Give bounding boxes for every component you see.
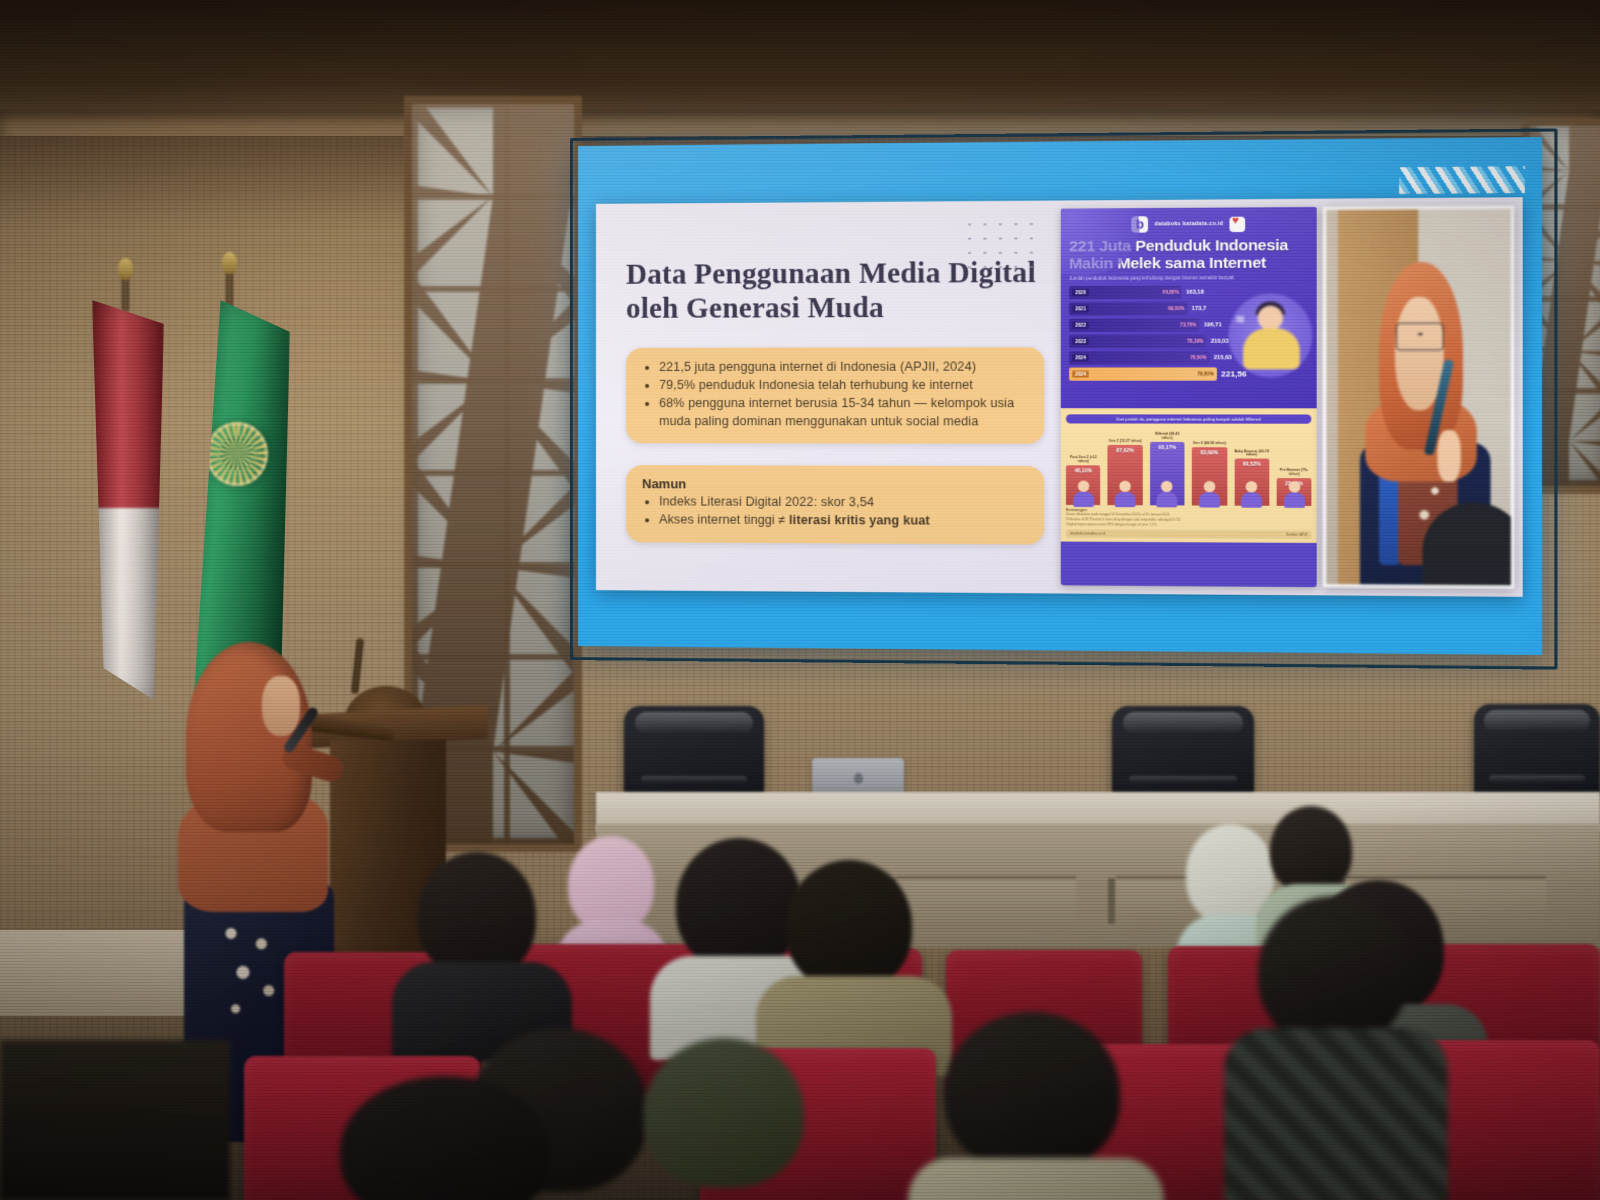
infographic-footnotes: Keterangan: Survei dilakukan pada tangga… bbox=[1066, 508, 1312, 527]
illustration-person: ≋ bbox=[1229, 293, 1313, 377]
flagpole-finial bbox=[118, 258, 133, 280]
chart-bar-percent: 78,50% bbox=[1190, 356, 1206, 361]
generation-label: Post Gen Z (<12 tahun) bbox=[1066, 456, 1101, 464]
figure-head bbox=[1161, 481, 1172, 492]
chair-highlight bbox=[641, 776, 747, 783]
caveat-plain: Akses internet tinggi ≠ bbox=[659, 513, 789, 528]
generation-figure-illustration bbox=[1239, 481, 1265, 508]
audience-member-front bbox=[1224, 896, 1444, 1196]
chart-bar-year: 2021 bbox=[1072, 306, 1089, 313]
generation-percent: 93,17% bbox=[1158, 445, 1176, 451]
chair-highlight bbox=[1484, 710, 1590, 733]
institution-emblem bbox=[206, 422, 268, 486]
chart-bar-value: 210,03 bbox=[1211, 339, 1229, 345]
slide-text-column: Data Penggunaan Media Digital oleh Gener… bbox=[596, 201, 1059, 594]
generation-bar: Milenial (28-43 tahun)93,17% bbox=[1150, 433, 1185, 505]
generation-note-banner: Dari jumlah itu, pengguna internet Indon… bbox=[1066, 414, 1312, 424]
generation-bar: Gen Z (12-27 tahun)87,02% bbox=[1108, 440, 1143, 505]
audience-plaid-shirt bbox=[1224, 1028, 1448, 1200]
audience-member-front bbox=[620, 1020, 820, 1200]
chart-bar-percent: 64,80% bbox=[1162, 290, 1178, 295]
chart-bar-year: 2023 bbox=[1072, 338, 1089, 345]
figure-head bbox=[1078, 481, 1089, 492]
generation-figure-illustration bbox=[1112, 481, 1138, 508]
auditorium-photo: Data Penggunaan Media Digital oleh Gener… bbox=[0, 0, 1600, 1200]
figure-body bbox=[1073, 492, 1094, 507]
figure-head bbox=[1204, 481, 1216, 492]
caveat-heading: Namun bbox=[642, 477, 1028, 493]
infographic-generations: Dari jumlah itu, pengguna internet Indon… bbox=[1061, 408, 1317, 543]
illustration-head bbox=[1258, 306, 1283, 331]
footer-source-right: Sumber: APJII bbox=[1286, 533, 1307, 537]
generation-percent: 60,52% bbox=[1243, 462, 1261, 468]
chart-bar: 202378,19% bbox=[1069, 335, 1207, 349]
chart-bar: 202273,70% bbox=[1069, 319, 1199, 333]
generation-label: Milenial (28-43 tahun) bbox=[1150, 433, 1185, 441]
dot-grid-decoration bbox=[962, 217, 1036, 274]
audience-member-front bbox=[300, 1076, 600, 1200]
presenter-face bbox=[262, 676, 300, 736]
chair-highlight bbox=[1489, 775, 1585, 783]
audience-cap bbox=[644, 1038, 804, 1188]
presentation-slide: Data Penggunaan Media Digital oleh Gener… bbox=[596, 197, 1523, 597]
audience-shoulders bbox=[908, 1158, 1164, 1200]
generation-percent: 87,02% bbox=[1116, 448, 1134, 454]
brand-name: databoks katadata.co.id bbox=[1155, 221, 1224, 228]
generation-bar: Pre Boomer (79+ tahun)23,00% bbox=[1277, 469, 1312, 506]
audience-head bbox=[786, 860, 912, 990]
panel-chair bbox=[1474, 704, 1600, 798]
list-item: 221,5 juta pengguna internet di Indonesi… bbox=[659, 359, 1028, 377]
indonesian-flag bbox=[92, 300, 164, 700]
chart-bar-value: 221,56 bbox=[1221, 370, 1247, 379]
panel-chair bbox=[624, 706, 764, 798]
figure-head bbox=[1246, 481, 1258, 492]
audience-head bbox=[340, 1076, 550, 1200]
infographic-image: b databoks katadata.co.id 221 Juta Pendu… bbox=[1061, 207, 1317, 587]
chart-bar-value: 215,63 bbox=[1214, 355, 1232, 361]
list-item: 79,5% penduduk Indonesia telah terhubung… bbox=[659, 377, 1028, 395]
slide-caveat-list: Indeks Literasi Digital 2022: skor 3,54 … bbox=[642, 494, 1028, 531]
chart-bar-year: 2024 bbox=[1072, 355, 1089, 362]
chart-bar-percent: 79,50% bbox=[1197, 372, 1213, 377]
eyeglasses-icon bbox=[1396, 323, 1443, 351]
generation-bar: Post Gen Z (<12 tahun)48,10% bbox=[1066, 456, 1101, 506]
generation-bar: Gen X (44-59 tahun)83,69% bbox=[1192, 442, 1227, 506]
chart-bar: 202169,00% bbox=[1069, 302, 1187, 316]
projection-screen: Data Penggunaan Media Digital oleh Gener… bbox=[578, 137, 1542, 655]
chart-bar-value: 163,18 bbox=[1186, 290, 1204, 296]
desk-gap bbox=[1108, 878, 1115, 924]
chart-bar-percent: 78,19% bbox=[1187, 339, 1203, 344]
audience-head bbox=[1258, 896, 1408, 1046]
figure-body bbox=[1157, 492, 1178, 507]
figure-body bbox=[1199, 492, 1220, 507]
hijab-head bbox=[568, 836, 654, 932]
chart-bar: 202478,50% bbox=[1069, 351, 1209, 364]
heart-icon bbox=[1229, 216, 1245, 231]
audience-head bbox=[944, 1012, 1120, 1172]
chart-bar-percent: 73,70% bbox=[1180, 323, 1196, 328]
flagpole-finial bbox=[222, 252, 237, 274]
chart-bar-percent: 69,00% bbox=[1168, 306, 1184, 311]
slide-stats-box: 221,5 juta pengguna internet di Indonesi… bbox=[626, 348, 1044, 445]
figure-body bbox=[1284, 493, 1305, 508]
foreground-shadow bbox=[0, 1040, 230, 1200]
chart-bar: 202064,80% bbox=[1069, 286, 1182, 300]
caveat-bold: literasi kritis yang kuat bbox=[789, 513, 930, 528]
chair-highlight bbox=[635, 712, 753, 734]
generation-percent: 48,10% bbox=[1074, 468, 1092, 474]
figure-body bbox=[1115, 492, 1136, 507]
decorative-stripes bbox=[1399, 166, 1525, 194]
figure-body bbox=[1241, 493, 1262, 508]
list-item: Indeks Literasi Digital 2022: skor 3,54 bbox=[659, 494, 1028, 513]
slide-caveat-box: Namun Indeks Literasi Digital 2022: skor… bbox=[626, 466, 1044, 545]
chair-highlight bbox=[1129, 776, 1237, 783]
generation-label: Baby Boomer (60-78 tahun) bbox=[1234, 450, 1269, 458]
slide-stats-list: 221,5 juta pengguna internet di Indonesi… bbox=[642, 359, 1028, 431]
infographic-subtitle: Jumlah penduduk Indonesia yang terhubung… bbox=[1069, 275, 1308, 282]
generation-label: Gen Z (12-27 tahun) bbox=[1109, 440, 1142, 444]
chart-bar-value: 173,7 bbox=[1192, 306, 1207, 312]
chair-highlight bbox=[1123, 712, 1242, 734]
infographic-footer-bar: databoks.katadata.co.id Sumber: APJII bbox=[1066, 530, 1312, 539]
audience-member bbox=[392, 852, 568, 1052]
speaker-video-feed bbox=[1323, 206, 1514, 589]
generation-figure-illustration bbox=[1281, 481, 1307, 508]
audience-head bbox=[418, 852, 536, 978]
wifi-icon: ≋ bbox=[1235, 312, 1252, 326]
list-item: 68% pengguna internet berusia 15-34 tahu… bbox=[659, 395, 1028, 431]
generation-label: Pre Boomer (79+ tahun) bbox=[1277, 469, 1312, 477]
keterangan-line: Tingkat kepercayaan survei 99% dengan ma… bbox=[1066, 522, 1312, 528]
list-item: Akses internet tinggi ≠ literasi kritis … bbox=[659, 512, 1028, 532]
chart-bar-year: 2022 bbox=[1072, 322, 1089, 329]
generation-percent: 83,69% bbox=[1201, 450, 1219, 456]
generation-figure-illustration bbox=[1070, 481, 1096, 508]
generation-figure-illustration bbox=[1196, 481, 1222, 508]
infographic-header: b databoks katadata.co.id 221 Juta Pendu… bbox=[1061, 207, 1317, 408]
chart-bar-year: 2024 bbox=[1072, 371, 1089, 378]
chart-bar-value: 196,71 bbox=[1204, 322, 1222, 328]
generation-label: Gen X (44-59 tahun) bbox=[1193, 442, 1226, 446]
speaker-hand bbox=[1437, 430, 1460, 482]
flag-fold-shading bbox=[92, 300, 164, 700]
illustration-body bbox=[1243, 328, 1300, 369]
panel-chair bbox=[1112, 706, 1254, 798]
figure-head bbox=[1119, 481, 1130, 492]
generation-bar-chart: Post Gen Z (<12 tahun)48,10%Gen Z (12-27… bbox=[1066, 430, 1312, 506]
footer-source-left: databoks.katadata.co.id bbox=[1070, 532, 1105, 536]
chart-bar-year: 2020 bbox=[1072, 289, 1089, 296]
chart-bar: 202479,50% bbox=[1069, 368, 1217, 381]
slide-media-column: b databoks katadata.co.id 221 Juta Pendu… bbox=[1059, 197, 1523, 597]
generation-bar: Baby Boomer (60-78 tahun)60,52% bbox=[1234, 450, 1269, 506]
generation-figure-illustration bbox=[1154, 481, 1180, 508]
apple-logo-icon bbox=[854, 773, 863, 784]
figure-head bbox=[1288, 481, 1300, 492]
audience-member-front bbox=[908, 1012, 1160, 1200]
